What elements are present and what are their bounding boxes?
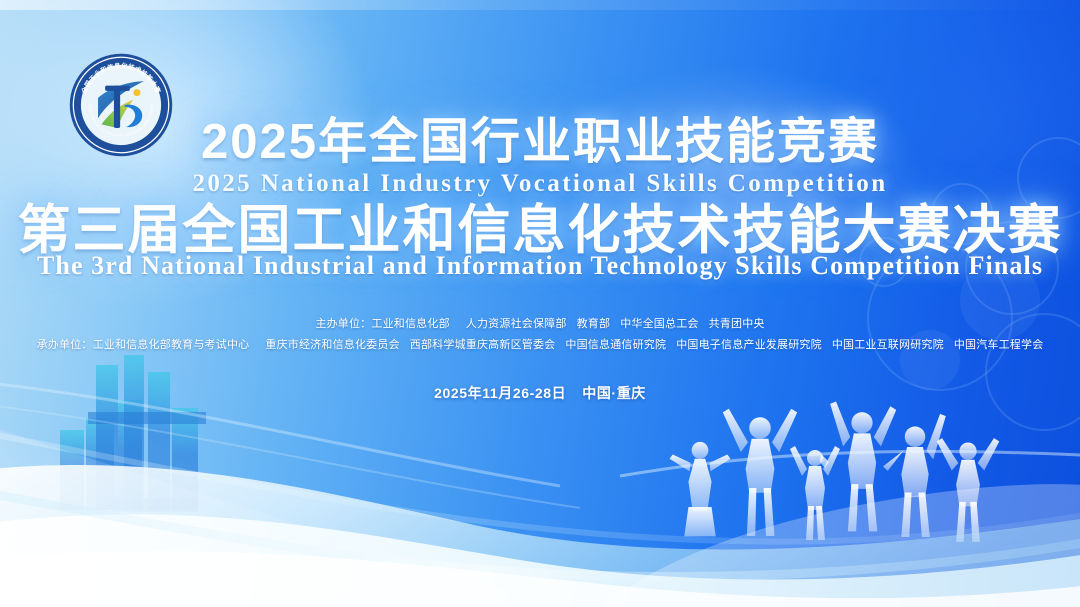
organizer-0: 工业和信息化部 xyxy=(371,318,449,330)
title-cn-primary: 2025年全国行业职业技能竞赛 xyxy=(0,118,1080,167)
people-silhouettes xyxy=(670,402,1000,542)
host-1: 重庆市经济和信息化委员会 xyxy=(265,339,399,351)
wave-3 xyxy=(0,551,1080,607)
organizer-label: 主办单位： xyxy=(315,318,371,330)
top-sheen xyxy=(0,0,1080,10)
organizers-line: 主办单位：工业和信息化部人力资源社会保障部教育部中华全国总工会共青团中央 xyxy=(0,319,1080,330)
skyline-silhouette xyxy=(60,355,206,512)
organizer-4: 共青团中央 xyxy=(709,318,765,330)
host-2: 西部科学城重庆高新区管委会 xyxy=(410,339,556,351)
light-sweep xyxy=(0,430,560,607)
event-date: 2025年11月26-28日 xyxy=(434,385,566,401)
host-0: 工业和信息化部教育与考试中心 xyxy=(93,339,250,351)
event-location: 中国·重庆 xyxy=(582,385,646,401)
title-cn-secondary: 第三届全国工业和信息化技术技能大赛决赛 xyxy=(0,204,1080,257)
organizer-2: 教育部 xyxy=(577,318,611,330)
wave-stroke-2 xyxy=(0,432,1080,542)
wave-1 xyxy=(0,465,1080,607)
host-6: 中国汽车工程学会 xyxy=(954,339,1044,351)
wave-hairline-2 xyxy=(0,404,580,508)
organizer-1: 人力资源社会保障部 xyxy=(466,318,567,330)
host-4: 中国电子信息产业发展研究院 xyxy=(676,339,822,351)
host-3: 中国信息通信研究院 xyxy=(565,339,666,351)
wave-4 xyxy=(600,484,1080,607)
host-label: 承办单位： xyxy=(37,339,93,351)
title-en-primary: 2025 National Industry Vocational Skills… xyxy=(0,171,1080,196)
title-en-secondary: The 3rd National Industrial and Informat… xyxy=(0,253,1080,279)
organizer-3: 中华全国总工会 xyxy=(620,318,698,330)
wave-hairline-3 xyxy=(620,451,1080,476)
date-location-line: 2025年11月26-28日中国·重庆 xyxy=(0,386,1080,400)
wave-stroke-1 xyxy=(0,492,1080,577)
wave-2 xyxy=(0,514,1080,607)
host-5: 中国工业互联网研究院 xyxy=(832,339,944,351)
hosts-line: 承办单位：工业和信息化部教育与考试中心重庆市经济和信息化委员会西部科学城重庆高新… xyxy=(0,340,1080,351)
competition-banner: 全国工业和信息化技术技能大赛 National Industrial and I… xyxy=(0,0,1080,607)
